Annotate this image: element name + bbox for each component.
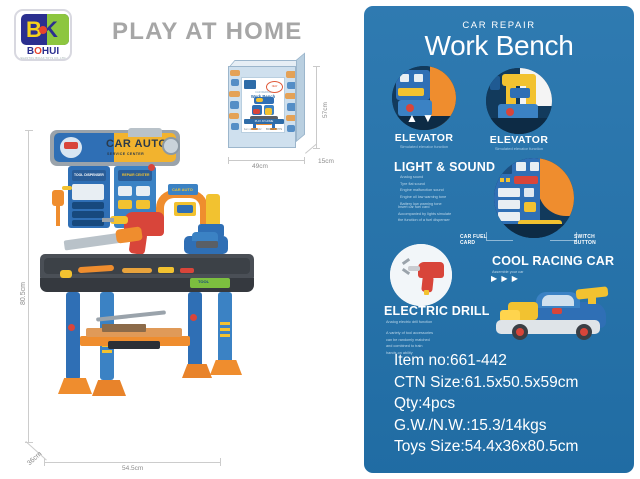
callout-line-right [550,232,577,241]
spec-weight: G.W./N.W.:15.3/14kgs [394,415,632,437]
panel-headline: Work Bench [364,30,634,62]
logo-subtitle: SHANTOU BOHUI TOYS CO.,LTD [18,57,68,60]
product-illustration: CAR AUTO SERVICE CENTER TOOL DISPENSER R… [38,128,256,440]
feature-subtitle-elevator-2: Simulated elevator function [471,146,567,151]
left-white-panel: B K BOHUI SHANTOU BOHUI TOYS CO.,LTD PLA… [0,0,362,479]
right-blue-panel: CAR REPAIR Work Bench ▲ ▼ ELEVATOR Simul… [364,6,634,473]
electric-drill-heading: ELECTRIC DRILL [384,304,490,318]
light-sound-heading: LIGHT & SOUND [394,160,495,174]
spec-toys-size: Toys Size:54.4x36x80.5cm [394,436,632,458]
racing-car-illustration [490,284,614,346]
light-sound-bullets: Analog sound Tyre flat sound Engine malf… [400,174,490,207]
feature-subtitle-elevator-1: Simulated elevator function [376,144,472,149]
logo-square-icon: B K [21,14,69,45]
product-dim-width: 54.5cm [122,465,143,472]
spec-item-no: Item no:661-442 [394,350,632,372]
carton-banner: PLAY AT HOME [244,119,284,124]
page-title: PLAY AT HOME [112,18,302,46]
carton-product-photo [248,97,280,129]
product-dim-height: 80.5cm [20,282,27,305]
elevator-up-arrow-icon: ▲ [406,112,418,124]
product-sign-title: CAR AUTO [106,138,167,150]
elevator-down-arrow-icon: ▼ [422,112,434,124]
feature-caption-elevator-1: ELEVATOR [382,132,466,144]
electric-drill-subtitle: Analog electric drill function [386,319,482,326]
product-panel-right-label: REPAIR CENTER [122,173,150,177]
feature-circle-electric-drill [390,244,452,306]
feature-circle-elevator-2 [486,68,552,134]
product-dim-depth: 36cm [26,451,43,468]
spec-ctn-size: CTN Size:61.5x50.5x59cm [394,372,632,394]
carton-brand-tag [244,80,256,89]
feature-circle-light-sound [494,158,574,238]
bohui-logo: B K BOHUI SHANTOU BOHUI TOYS CO.,LTD [14,9,72,61]
carton-window: NEW CAR REPAIR Work Bench [241,77,285,133]
logo-dot-icon [39,26,47,34]
callout-switch-button: SWITCH BUTTON [574,234,624,247]
catalog-page: B K BOHUI SHANTOU BOHUI TOYS CO.,LTD PLA… [0,0,640,479]
racing-car-arrows: ▶ ▶ ▶ [491,274,519,283]
carton-dim-depth: 15cm [318,158,334,165]
carton-dim-height: 57cm [322,102,329,118]
light-sound-note: Insert car fuel card Accompanied by ligh… [398,204,496,224]
product-panel-left-label: TOOL DISPENSER [74,173,104,177]
carton-foot-right: BOHUI TOYS [266,128,282,131]
spec-qty: Qty:4pcs [394,393,632,415]
feature-circle-elevator-1: ▲ ▼ [392,66,456,130]
callout-car-fuel-card: CAR FUEL CARD [460,234,506,247]
product-tray-label: TOOL [198,279,209,284]
racing-car-heading: COOL RACING CAR [492,254,614,268]
product-sign-subtitle: SERVICE CENTER [107,152,144,156]
feature-caption-elevator-2: ELEVATOR [477,134,561,146]
product-arch-label: CAR AUTO [172,187,193,192]
specifications-block: Item no:661-442 CTN Size:61.5x50.5x59cm … [394,350,632,458]
logo-wordmark: BOHUI [18,46,68,57]
